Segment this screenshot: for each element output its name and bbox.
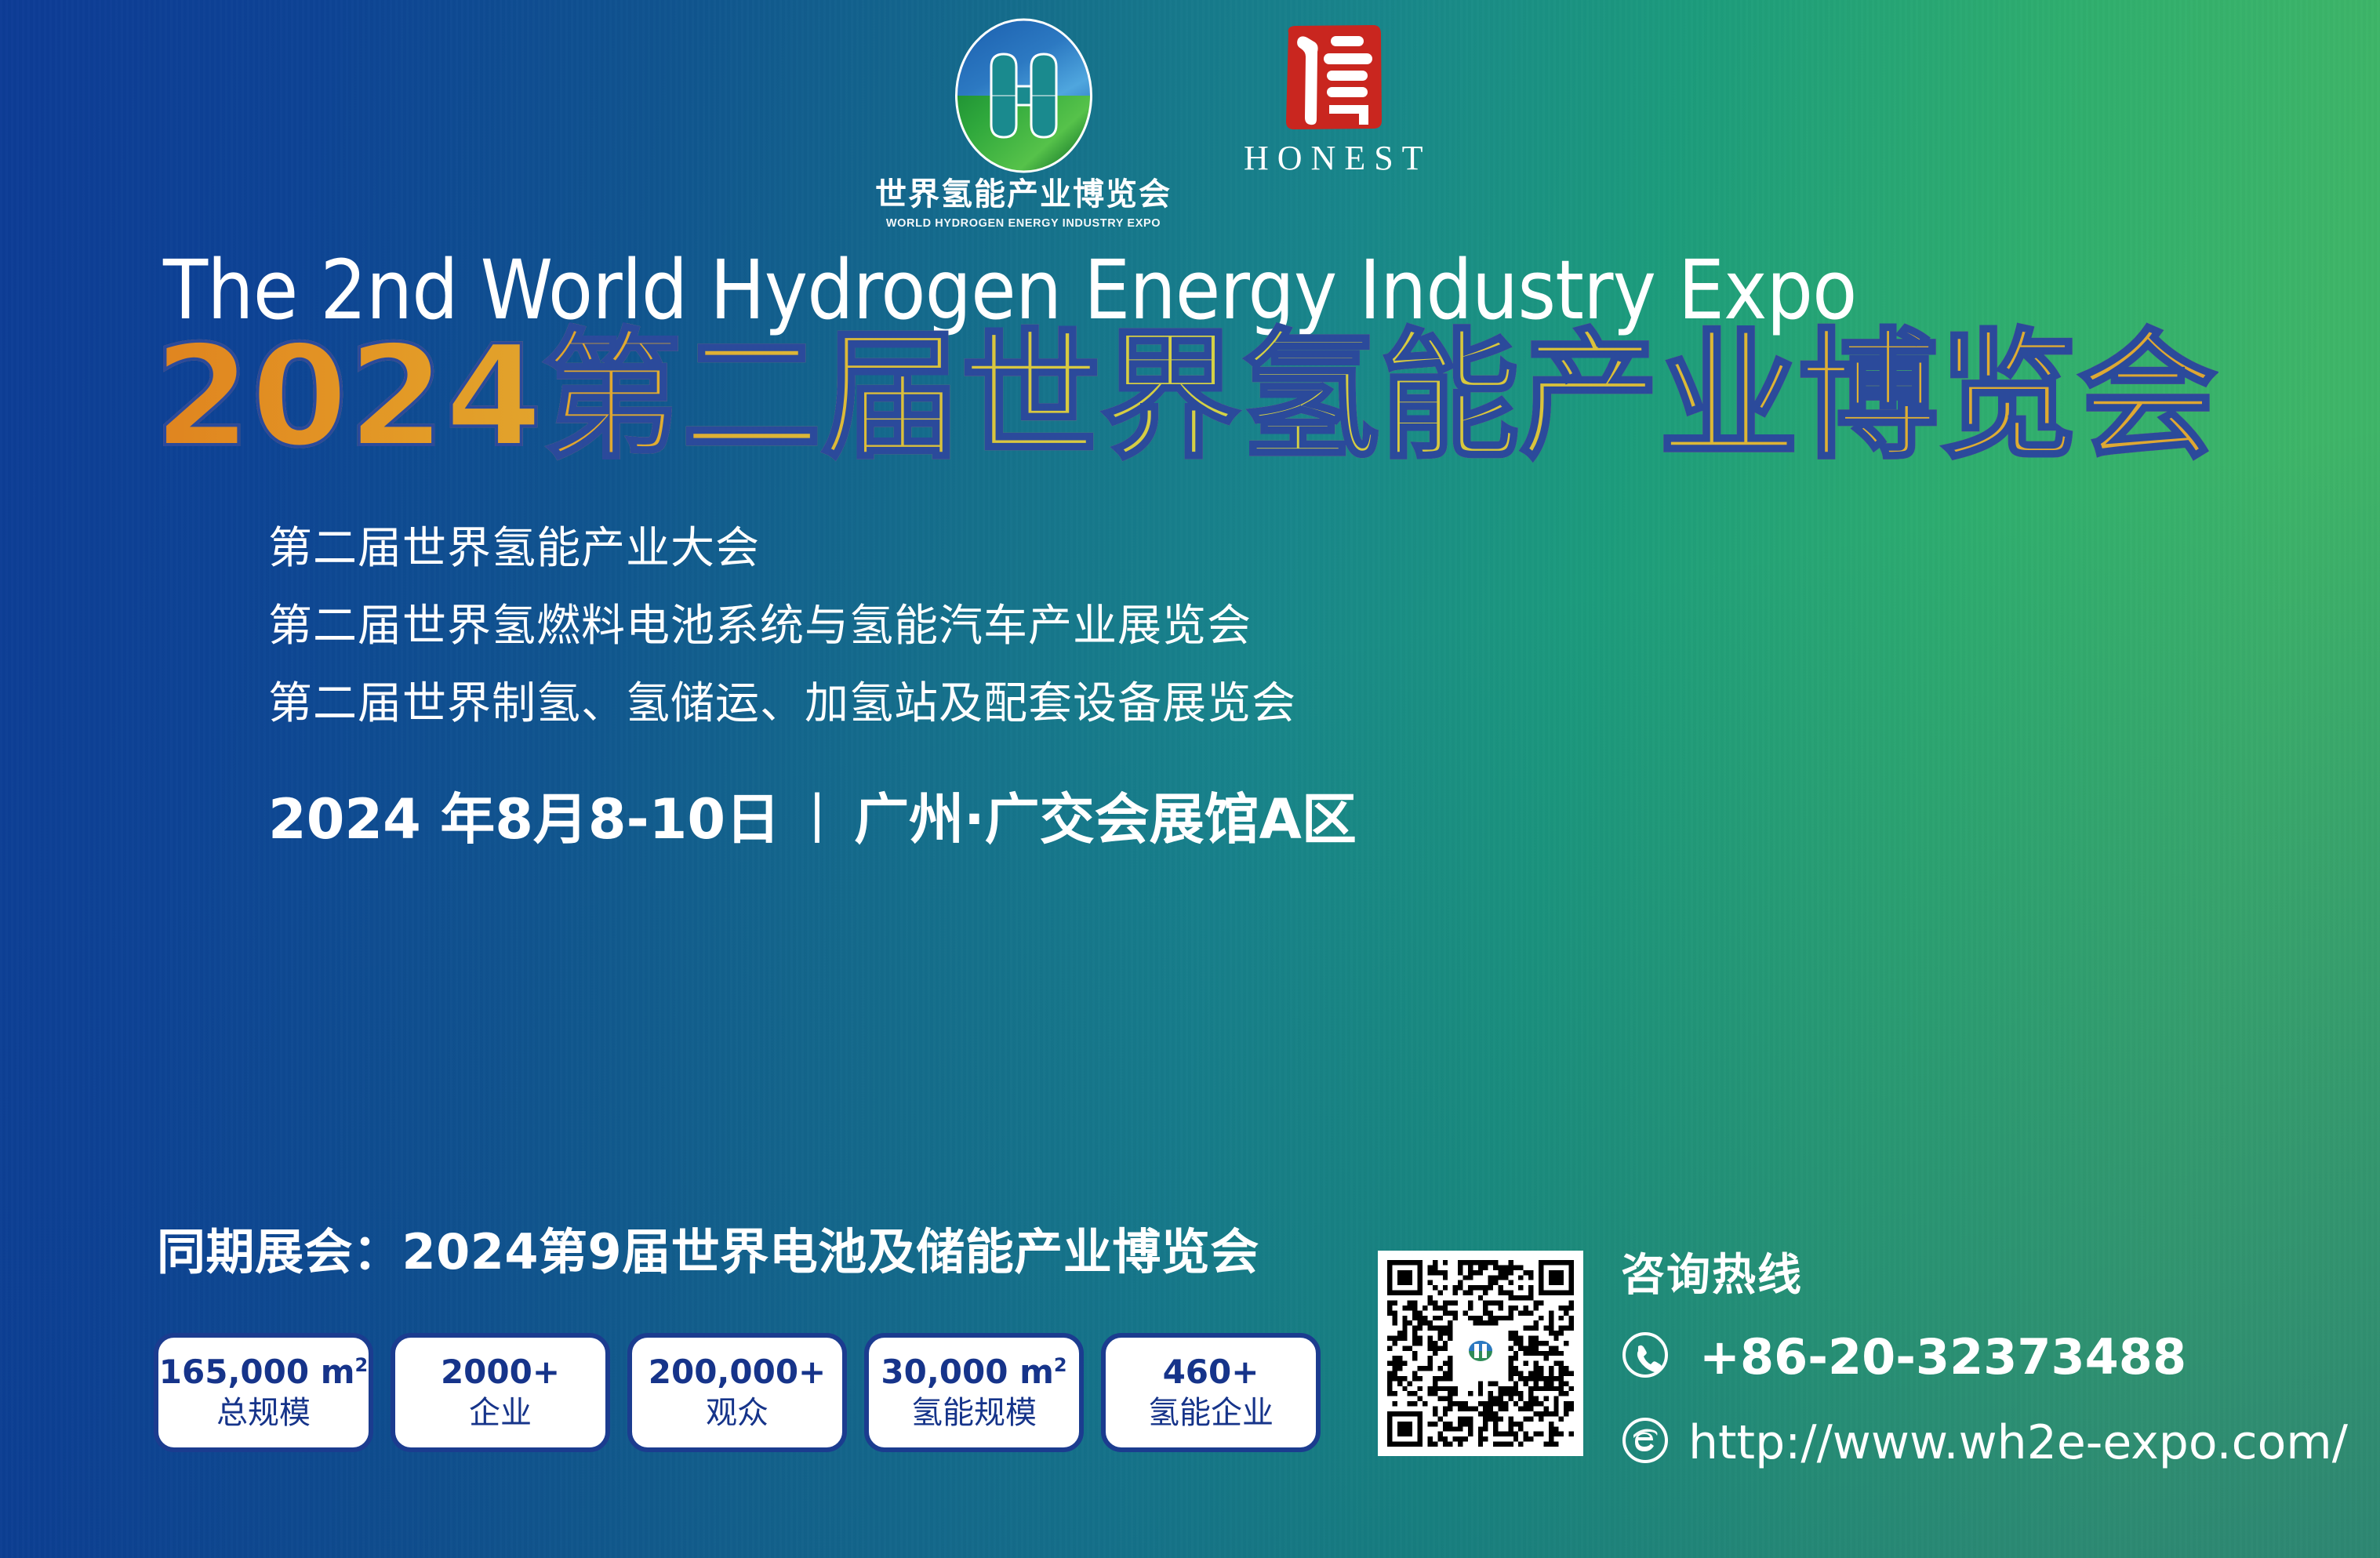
stat-number: 460+ xyxy=(1163,1354,1259,1390)
honest-logo: HONEST xyxy=(1235,17,1432,176)
stat-card: 165,000 m2 总规模 xyxy=(154,1333,373,1452)
stat-number: 165,000 m2 xyxy=(159,1354,368,1390)
stat-number: 200,000+ xyxy=(649,1354,827,1390)
expo-logo: 世界氢能产业博览会 WORLD HYDROGEN ENERGY INDUSTRY… xyxy=(867,17,1180,230)
qr-center-logo xyxy=(1456,1329,1505,1378)
expo-logo-en-name: WORLD HYDROGEN ENERGY INDUSTRY EXPO xyxy=(886,217,1161,230)
stat-label: 观众 xyxy=(706,1395,769,1431)
hotline-label: 咨询热线 xyxy=(1621,1254,2348,1298)
event-venue: 广州·广交会展馆A区 xyxy=(854,787,1357,852)
subtitle-list: 第二届世界氢能产业大会 第二届世界氢燃料电池系统与氢能汽车产业展览会 第二届世界… xyxy=(268,527,1296,760)
logo-row: 世界氢能产业博览会 WORLD HYDROGEN ENERGY INDUSTRY… xyxy=(867,17,1432,230)
stat-number: 2000+ xyxy=(441,1354,560,1390)
event-separator: 丨 xyxy=(780,792,854,847)
website-row[interactable]: http://www.wh2e-expo.com/ xyxy=(1621,1416,2348,1469)
subtitle-line: 第二届世界制氢、氢储运、加氢站及配套设备展览会 xyxy=(268,682,1296,726)
honest-seal-icon xyxy=(1282,22,1385,132)
stat-card: 200,000+ 观众 xyxy=(627,1333,847,1452)
contact-text: 咨询热线 +86-20-32373488 xyxy=(1621,1251,2348,1469)
headline-chinese: 2024第二届世界氢能产业博览会 xyxy=(154,323,2217,471)
stat-label: 氢能企业 xyxy=(1148,1395,1274,1431)
phone-row[interactable]: +86-20-32373488 xyxy=(1621,1331,2348,1383)
wechat-qr-code[interactable] xyxy=(1378,1251,1583,1456)
subtitle-line: 第二届世界氢燃料电池系统与氢能汽车产业展览会 xyxy=(268,605,1296,648)
honest-logo-en-name: HONEST xyxy=(1244,141,1432,176)
stat-card: 2000+ 企业 xyxy=(391,1333,610,1452)
website-url: http://www.wh2e-expo.com/ xyxy=(1688,1419,2348,1466)
stat-number: 30,000 m2 xyxy=(881,1354,1066,1390)
stat-card: 460+ 氢能企业 xyxy=(1101,1333,1321,1452)
expo-logo-cn-name: 世界氢能产业博览会 xyxy=(875,179,1172,210)
phone-icon xyxy=(1621,1331,1670,1383)
contact-block: 咨询热线 +86-20-32373488 xyxy=(1378,1251,2348,1469)
concurrent-exhibition: 同期展会：2024第9届世界电池及储能产业博览会 xyxy=(157,1228,1259,1277)
phone-number: +86-20-32373488 xyxy=(1699,1333,2186,1382)
browser-e-icon xyxy=(1621,1416,1670,1469)
stat-label: 企业 xyxy=(469,1395,532,1431)
stat-card: 30,000 m2 氢能规模 xyxy=(864,1333,1084,1452)
event-date-venue: 2024 年8月8-10日丨广州·广交会展馆A区 xyxy=(268,792,1357,847)
stats-row: 165,000 m2 总规模 2000+ 企业 200,000+ 观众 30,0… xyxy=(154,1333,1321,1452)
expo-emblem-mini-icon xyxy=(1465,1338,1496,1369)
subtitle-line: 第二届世界氢能产业大会 xyxy=(268,527,1296,571)
world-hydrogen-energy-expo-emblem-icon xyxy=(955,17,1092,174)
event-poster: 世界氢能产业博览会 WORLD HYDROGEN ENERGY INDUSTRY… xyxy=(0,0,2380,1558)
event-date: 2024 年8月8-10日 xyxy=(268,787,780,852)
stat-label: 总规模 xyxy=(216,1395,311,1431)
stat-label: 氢能规模 xyxy=(911,1395,1037,1431)
